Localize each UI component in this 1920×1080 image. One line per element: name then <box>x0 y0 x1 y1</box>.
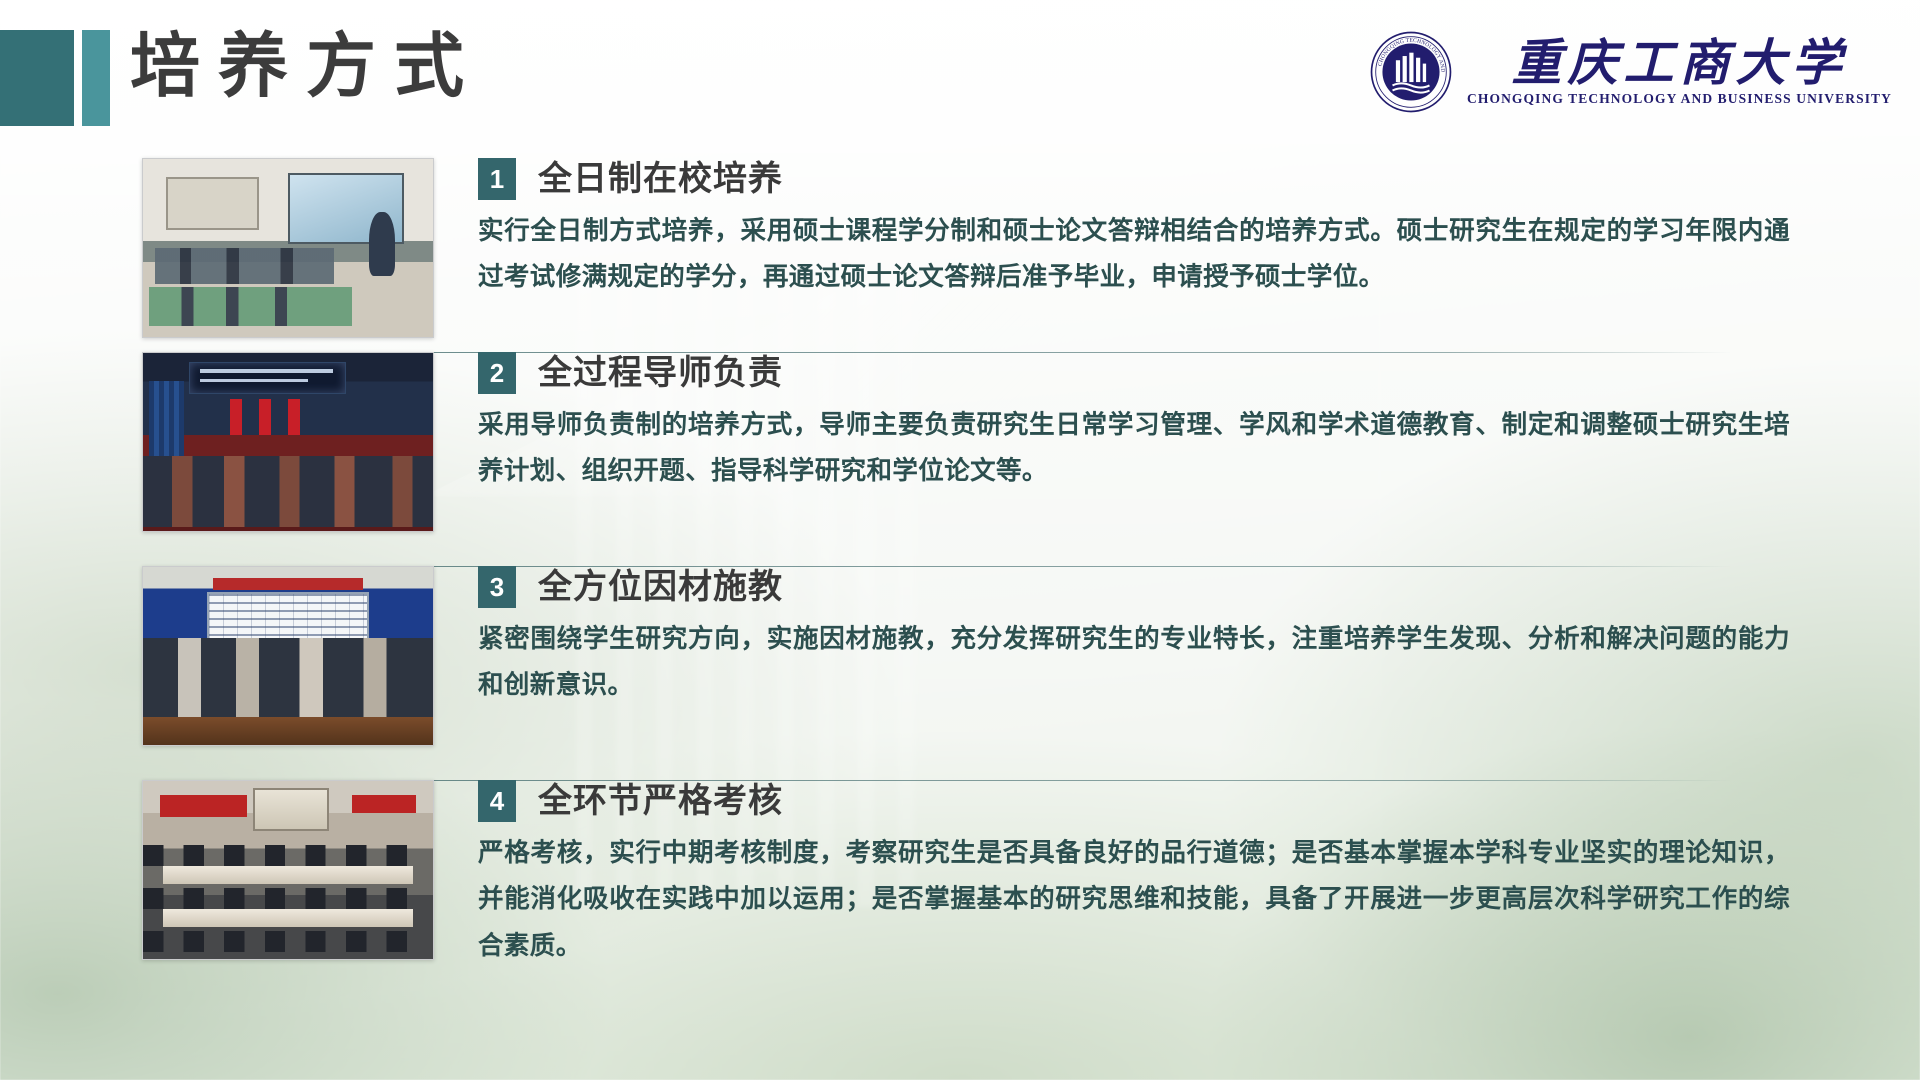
slide-header: 培养方式 CHONGQING TECHNOLOGY AND BUSINESS U… <box>0 0 1920 148</box>
section-row-2: 2 全过程导师负责 采用导师负责制的培养方式，导师主要负责研究生日常学习管理、学… <box>0 352 1920 532</box>
seminar-presentation-photo <box>143 567 433 745</box>
section-text-1: 1 全日制在校培养 实行全日制方式培养，采用硕士课程学分制和硕士论文答辩相结合的… <box>478 158 1920 301</box>
ceremony-meeting-photo <box>143 353 433 531</box>
section-thumbnail-1[interactable] <box>142 158 434 338</box>
section-number-badge-3: 3 <box>478 566 516 608</box>
slide-root: 培养方式 CHONGQING TECHNOLOGY AND BUSINESS U… <box>0 0 1920 1080</box>
section-title-2: 全过程导师负责 <box>538 353 783 394</box>
section-heading-4: 4 全环节严格考核 <box>478 780 1790 822</box>
section-title-3: 全方位因材施教 <box>538 567 783 608</box>
university-name-cn: 重庆工商大学 <box>1512 38 1848 88</box>
section-text-2: 2 全过程导师负责 采用导师负责制的培养方式，导师主要负责研究生日常学习管理、学… <box>478 352 1920 495</box>
title-accent-bar-light <box>82 30 110 126</box>
university-name-en: CHONGQING TECHNOLOGY AND BUSINESS UNIVER… <box>1467 91 1892 107</box>
section-heading-3: 3 全方位因材施教 <box>478 566 1790 608</box>
university-logo: CHONGQING TECHNOLOGY AND BUSINESS UNIV 重… <box>1369 30 1892 114</box>
section-title-1: 全日制在校培养 <box>538 159 783 200</box>
page-title: 培养方式 <box>130 24 482 112</box>
section-heading-2: 2 全过程导师负责 <box>478 352 1790 394</box>
section-body-4: 严格考核，实行中期考核制度，考察研究生是否具备良好的品行道德；是否基本掌握本学科… <box>478 830 1790 969</box>
university-seal-icon: CHONGQING TECHNOLOGY AND BUSINESS UNIV <box>1369 30 1453 114</box>
section-body-3: 紧密围绕学生研究方向，实施因材施教，充分发挥研究生的专业特长，注重培养学生发现、… <box>478 616 1790 709</box>
section-text-4: 4 全环节严格考核 严格考核，实行中期考核制度，考察研究生是否具备良好的品行道德… <box>478 780 1920 969</box>
section-number-badge-2: 2 <box>478 352 516 394</box>
section-thumbnail-3[interactable] <box>142 566 434 746</box>
section-text-3: 3 全方位因材施教 紧密围绕学生研究方向，实施因材施教，充分发挥研究生的专业特长… <box>478 566 1920 709</box>
section-body-2: 采用导师负责制的培养方式，导师主要负责研究生日常学习管理、学风和学术道德教育、制… <box>478 402 1790 495</box>
conference-assessment-photo <box>143 781 433 959</box>
section-number-badge-4: 4 <box>478 780 516 822</box>
section-number-badge-1: 1 <box>478 158 516 200</box>
section-heading-1: 1 全日制在校培养 <box>478 158 1790 200</box>
classroom-lecture-photo <box>143 159 433 337</box>
section-thumbnail-2[interactable] <box>142 352 434 532</box>
section-row-3: 3 全方位因材施教 紧密围绕学生研究方向，实施因材施教，充分发挥研究生的专业特长… <box>0 566 1920 746</box>
title-accent-bar-dark <box>0 30 74 126</box>
section-title-4: 全环节严格考核 <box>538 781 783 822</box>
section-thumbnail-4[interactable] <box>142 780 434 960</box>
section-row-4: 4 全环节严格考核 严格考核，实行中期考核制度，考察研究生是否具备良好的品行道德… <box>0 780 1920 969</box>
section-row-1: 1 全日制在校培养 实行全日制方式培养，采用硕士课程学分制和硕士论文答辩相结合的… <box>0 158 1920 338</box>
section-body-1: 实行全日制方式培养，采用硕士课程学分制和硕士论文答辩相结合的培养方式。硕士研究生… <box>478 208 1790 301</box>
